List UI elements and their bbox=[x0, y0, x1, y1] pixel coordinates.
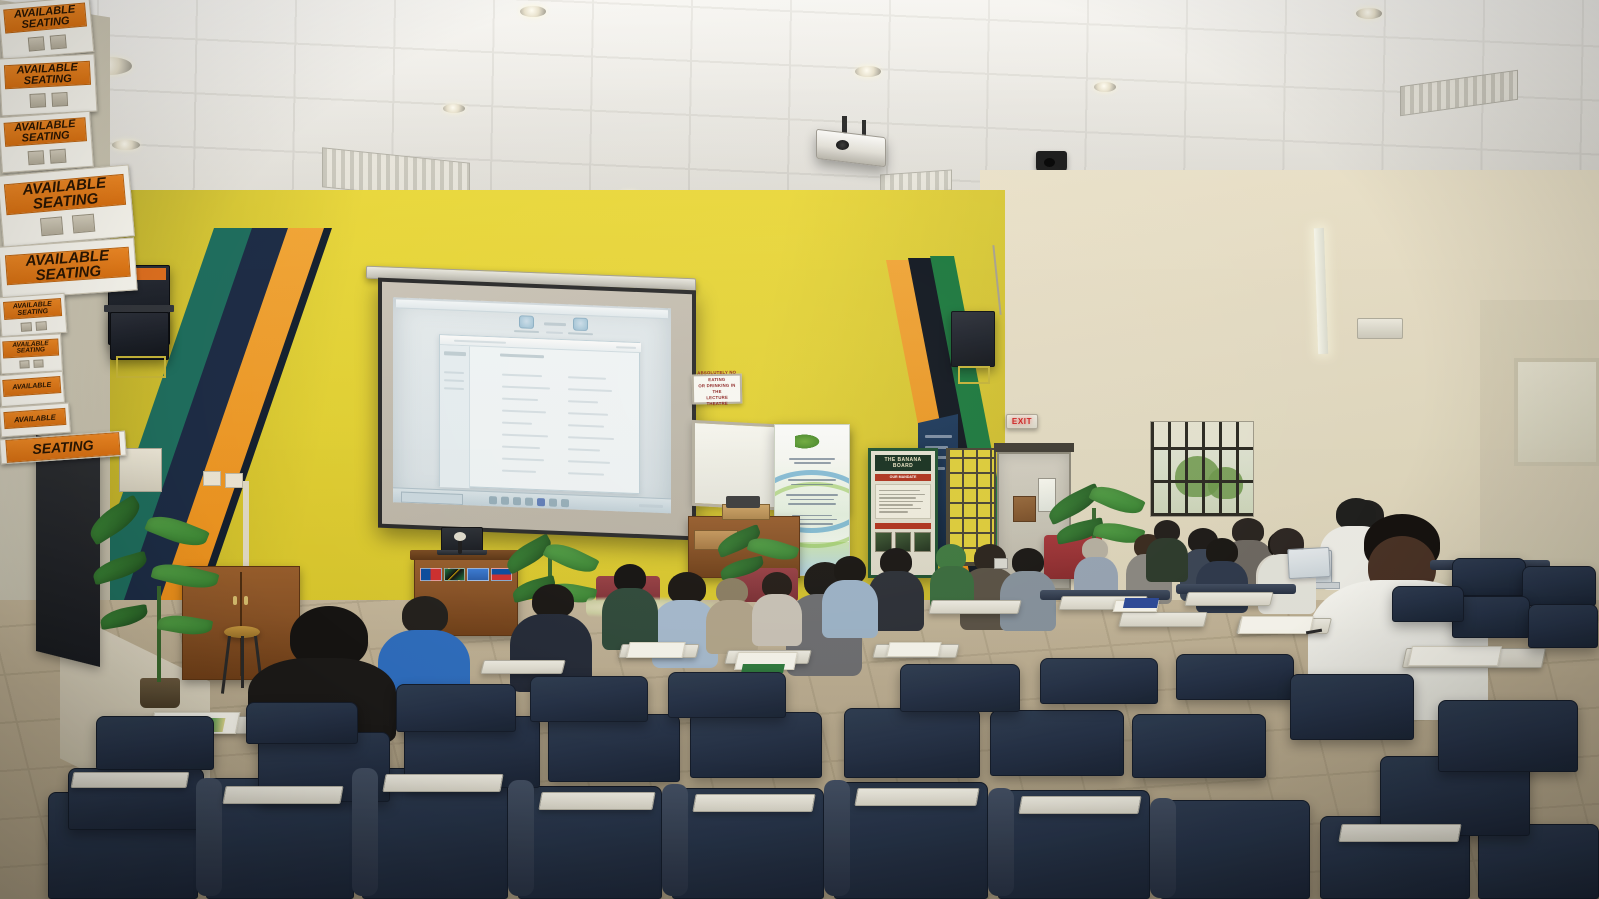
seat-sign-line1: AVAILABLE bbox=[14, 413, 56, 424]
folded-tablet-arm bbox=[538, 792, 655, 810]
projected-form-field[interactable] bbox=[568, 448, 600, 451]
seat-sign-pictogram bbox=[29, 93, 46, 108]
folded-tablet-arm bbox=[1018, 796, 1141, 814]
desktop-icon-1[interactable] bbox=[519, 315, 534, 329]
projected-form-field[interactable] bbox=[568, 376, 606, 380]
flag-generic-blue bbox=[467, 568, 489, 581]
door-header bbox=[994, 443, 1074, 452]
projected-form-field[interactable] bbox=[502, 470, 536, 473]
available-seating-sign: AVAILABLE SEATING bbox=[0, 164, 135, 247]
no-eating-line1: ABSOLUTELY NO EATING bbox=[696, 370, 738, 383]
folded-tablet-arm bbox=[222, 786, 343, 804]
stool-leg bbox=[241, 636, 244, 688]
projected-form-field[interactable] bbox=[568, 424, 604, 427]
tablet-arm-desk bbox=[480, 660, 565, 674]
lecture-seat[interactable] bbox=[900, 664, 1020, 712]
ceiling-downlight bbox=[443, 104, 465, 113]
wall-outlet bbox=[203, 471, 221, 486]
desktop-icon-1-label bbox=[514, 330, 539, 333]
projected-form-field[interactable] bbox=[568, 460, 610, 464]
seat-sign-line2: SEATING bbox=[16, 347, 45, 355]
lectern-microphone-head bbox=[454, 532, 466, 541]
green-banner-body-line bbox=[788, 479, 837, 481]
attendee bbox=[822, 556, 878, 636]
paper-on-desk bbox=[626, 642, 685, 658]
seat-sign-pictogram bbox=[20, 322, 32, 332]
banana-board-subtitle: OUR MANDATE bbox=[875, 474, 931, 481]
lecture-seat[interactable] bbox=[1176, 654, 1294, 700]
projected-form-field[interactable] bbox=[568, 400, 598, 403]
seat-sign-pictogram bbox=[27, 36, 44, 51]
attendee bbox=[1146, 520, 1188, 580]
wall-dark-panel bbox=[36, 435, 100, 667]
speaker-bracket-right bbox=[958, 366, 990, 384]
projector-lens bbox=[836, 140, 849, 150]
green-banner-body-line bbox=[788, 503, 837, 504]
ceiling-downlight bbox=[855, 66, 881, 77]
projected-form-field[interactable] bbox=[502, 398, 538, 401]
lecture-seat[interactable] bbox=[1160, 800, 1310, 899]
cabinet-handle bbox=[244, 596, 248, 605]
wall-conduit bbox=[243, 481, 249, 567]
lecture-seat[interactable] bbox=[96, 716, 214, 770]
desktop-center-label bbox=[544, 322, 566, 326]
tablet-arm-desk bbox=[1184, 592, 1273, 606]
taskbar-icon[interactable] bbox=[513, 497, 521, 505]
ceiling-downlight bbox=[1356, 8, 1382, 19]
ceiling-downlight bbox=[520, 6, 546, 17]
desktop-icon-2[interactable] bbox=[573, 317, 588, 331]
folded-tablet-arm bbox=[382, 774, 503, 792]
attendee-torso bbox=[752, 594, 802, 646]
green-banner-heading bbox=[789, 458, 835, 460]
paper-on-desk bbox=[886, 642, 941, 657]
projected-window-titlebar bbox=[440, 335, 641, 353]
lecture-theatre-photo: ABSOLUTELY NO EATING OR DRINKING IN THE … bbox=[0, 0, 1599, 899]
flag-dominican-republic bbox=[420, 568, 442, 581]
attendee-torso bbox=[706, 600, 758, 654]
seat-armrest bbox=[988, 788, 1014, 896]
projected-form-field[interactable] bbox=[502, 446, 540, 450]
projected-form-field[interactable] bbox=[502, 422, 532, 425]
lecture-seat-empty[interactable] bbox=[1392, 586, 1464, 622]
cabinet-handle bbox=[233, 596, 237, 605]
plant-pot-left bbox=[140, 678, 180, 708]
lecture-seat[interactable] bbox=[844, 708, 980, 778]
desktop-center-sublabel bbox=[546, 331, 563, 334]
blue-folder bbox=[1123, 598, 1159, 608]
speaker-shelf-left bbox=[104, 305, 174, 312]
projected-form-field[interactable] bbox=[502, 434, 548, 438]
available-seating-sign: AVAILABLE SEATING bbox=[0, 293, 67, 338]
projected-form-field[interactable] bbox=[502, 410, 546, 414]
seat-armrest bbox=[196, 778, 222, 896]
available-seating-sign: AVAILABLE SEATING bbox=[0, 111, 94, 173]
presenter-laptop-base[interactable] bbox=[437, 550, 487, 555]
green-banner-body-line bbox=[790, 499, 834, 500]
wall-speaker-left-lower bbox=[110, 312, 169, 360]
speaker-label-left bbox=[133, 268, 166, 280]
lectern-flag-row bbox=[420, 568, 512, 581]
ceiling-downlight bbox=[1094, 82, 1116, 92]
speaker-bracket-left bbox=[116, 356, 166, 378]
lecture-seat[interactable] bbox=[1040, 658, 1158, 704]
available-seating-sign-partial: AVAILABLE bbox=[0, 403, 71, 438]
dark-banner-heading-line bbox=[925, 435, 951, 438]
door-kickplate bbox=[1013, 496, 1036, 522]
wall-outlet bbox=[225, 473, 243, 488]
lecture-seat[interactable] bbox=[246, 702, 358, 744]
folded-tablet-arm bbox=[854, 788, 979, 806]
lecture-seat-empty[interactable] bbox=[1528, 604, 1598, 648]
barred-window bbox=[1150, 421, 1254, 517]
seat-sign-pictogram bbox=[50, 148, 67, 163]
available-seating-sign-partial: AVAILABLE bbox=[0, 371, 65, 407]
lecture-seat[interactable] bbox=[1290, 674, 1414, 740]
projected-window-sidebar bbox=[440, 345, 470, 488]
lecture-seat[interactable] bbox=[668, 672, 786, 718]
no-eating-line3: LECTURE THEATRE bbox=[696, 395, 738, 408]
available-seating-sign: AVAILABLE SEATING bbox=[0, 0, 94, 60]
taskbar-clock bbox=[639, 504, 663, 508]
available-seating-sign: AVAILABLE SEATING bbox=[0, 237, 138, 299]
seat-sign-pictogram bbox=[50, 34, 67, 49]
taskbar-icon[interactable] bbox=[525, 498, 533, 506]
banana-board-title: THE BANANA BOARD bbox=[875, 455, 931, 471]
green-banner-body-line bbox=[786, 494, 838, 495]
seat-sign-pictogram bbox=[36, 321, 48, 331]
lecture-seat[interactable] bbox=[1132, 714, 1266, 778]
available-seating-sign: AVAILABLE SEATING bbox=[0, 54, 97, 117]
exit-sign-label: EXIT bbox=[1012, 417, 1032, 426]
lecture-seat[interactable] bbox=[690, 712, 822, 778]
lecture-seat[interactable] bbox=[1438, 700, 1578, 772]
seat-sign-pictogram bbox=[19, 361, 29, 370]
projected-form-field[interactable] bbox=[502, 374, 542, 378]
seat-armrest bbox=[508, 780, 534, 896]
lecture-seat[interactable] bbox=[548, 714, 680, 782]
available-seating-sign: AVAILABLE SEATING bbox=[0, 333, 63, 374]
projected-form-heading bbox=[500, 354, 544, 359]
projected-app-window[interactable] bbox=[439, 334, 640, 494]
paper-on-desk bbox=[1238, 616, 1314, 634]
projector-screen-frame[interactable] bbox=[378, 278, 696, 541]
attendee-torso bbox=[1146, 538, 1188, 582]
attendee bbox=[510, 584, 592, 690]
attendee bbox=[602, 564, 658, 648]
banana-board-section-header bbox=[875, 523, 931, 529]
lecture-seat-empty[interactable] bbox=[1522, 566, 1596, 606]
seat-sign-pictogram bbox=[40, 217, 63, 237]
folded-tablet-arm bbox=[692, 794, 815, 812]
ceiling-downlight bbox=[112, 140, 140, 150]
taskbar-icon[interactable] bbox=[501, 497, 509, 505]
seat-armrest bbox=[824, 780, 850, 896]
ceiling-camera-lens bbox=[1044, 158, 1055, 167]
seat-sign-pictogram bbox=[34, 360, 44, 369]
seat-sign-pictogram bbox=[72, 214, 95, 234]
upper-right-window bbox=[1514, 358, 1599, 466]
lecture-seat[interactable] bbox=[530, 676, 648, 722]
seat-sign-pictogram bbox=[27, 150, 44, 165]
green-banner-subheading bbox=[794, 462, 831, 464]
seat-armrest bbox=[1150, 798, 1176, 898]
projected-form-field[interactable] bbox=[568, 388, 612, 392]
seat-sign-pictogram bbox=[52, 92, 69, 107]
attendee-torso bbox=[602, 588, 658, 650]
wall-speaker-right bbox=[951, 311, 995, 367]
attendee bbox=[706, 578, 758, 652]
banana-board-text-block bbox=[875, 484, 931, 519]
seat-armrest bbox=[352, 768, 378, 896]
taskbar-icon-active[interactable] bbox=[537, 498, 545, 506]
seat-sign-line2: SEATING bbox=[17, 308, 48, 317]
tablet-arm-desk bbox=[1118, 612, 1208, 627]
wall-sensor bbox=[1357, 318, 1403, 339]
projected-form-field[interactable] bbox=[502, 458, 544, 462]
taskbar-popup[interactable] bbox=[401, 492, 463, 505]
lecture-seat[interactable] bbox=[396, 684, 516, 732]
attendee bbox=[930, 544, 974, 606]
green-banner-logo bbox=[795, 430, 829, 453]
attendee-torso bbox=[822, 580, 878, 638]
projected-form-field[interactable] bbox=[568, 472, 604, 475]
item-on-table bbox=[726, 496, 760, 508]
projected-form-field[interactable] bbox=[568, 436, 614, 440]
taskbar-icon[interactable] bbox=[549, 498, 557, 506]
projected-form-field[interactable] bbox=[502, 386, 550, 390]
flag-jamaica bbox=[444, 568, 466, 581]
seat-sign-line2: SEATING bbox=[32, 438, 94, 457]
attendee-hair bbox=[402, 596, 448, 634]
desktop-icon-2-label bbox=[568, 332, 593, 335]
seat-sign-line2: SEATING bbox=[35, 264, 101, 284]
projected-desktop-image bbox=[393, 297, 671, 513]
tablet-arm-desk bbox=[928, 600, 1021, 614]
projected-app-logo bbox=[444, 351, 466, 356]
attendee bbox=[1000, 548, 1056, 630]
lecture-seat[interactable] bbox=[990, 710, 1124, 776]
plant-stem-left bbox=[157, 586, 161, 682]
attendee bbox=[752, 572, 802, 644]
projected-form-field[interactable] bbox=[568, 412, 608, 416]
exit-sign: EXIT bbox=[1006, 414, 1038, 429]
no-eating-sign: ABSOLUTELY NO EATING OR DRINKING IN THE … bbox=[692, 374, 743, 405]
folded-tablet-arm bbox=[1338, 824, 1461, 842]
seat-sign-line1: AVAILABLE bbox=[12, 381, 51, 391]
paper-on-desk bbox=[1408, 646, 1502, 666]
window-security-bars bbox=[1151, 422, 1253, 516]
no-eating-line2: OR DRINKING IN THE bbox=[696, 382, 738, 395]
attendee-laptop-back[interactable] bbox=[1287, 547, 1331, 579]
taskbar-icon[interactable] bbox=[489, 496, 497, 504]
folded-tablet-arm bbox=[71, 772, 190, 788]
taskbar-icon[interactable] bbox=[561, 499, 569, 507]
attendee-hair bbox=[532, 584, 574, 618]
seat-armrest bbox=[662, 784, 688, 896]
